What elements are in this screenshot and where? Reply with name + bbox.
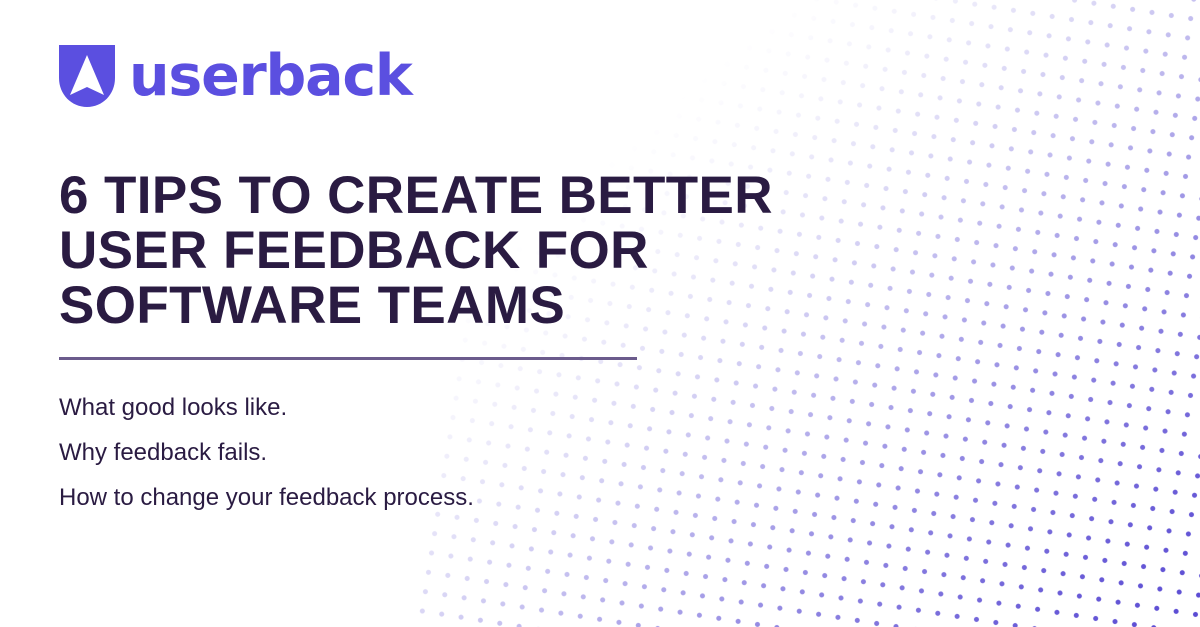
subtitle-list: What good looks like. Why feedback fails… [59, 385, 474, 520]
brand-logo[interactable]: userback [59, 45, 412, 107]
banner-content: userback 6 Tips to Create Better User Fe… [59, 0, 779, 627]
title-divider [59, 357, 637, 360]
promo-banner: userback 6 Tips to Create Better User Fe… [0, 0, 1200, 627]
list-item: What good looks like. [59, 385, 474, 430]
brand-wordmark: userback [129, 48, 412, 105]
list-item: Why feedback fails. [59, 430, 474, 475]
page-title: 6 Tips to Create Better User Feedback fo… [59, 168, 879, 333]
userback-shield-arrow-logo-icon [59, 45, 115, 107]
list-item: How to change your feedback process. [59, 475, 474, 520]
